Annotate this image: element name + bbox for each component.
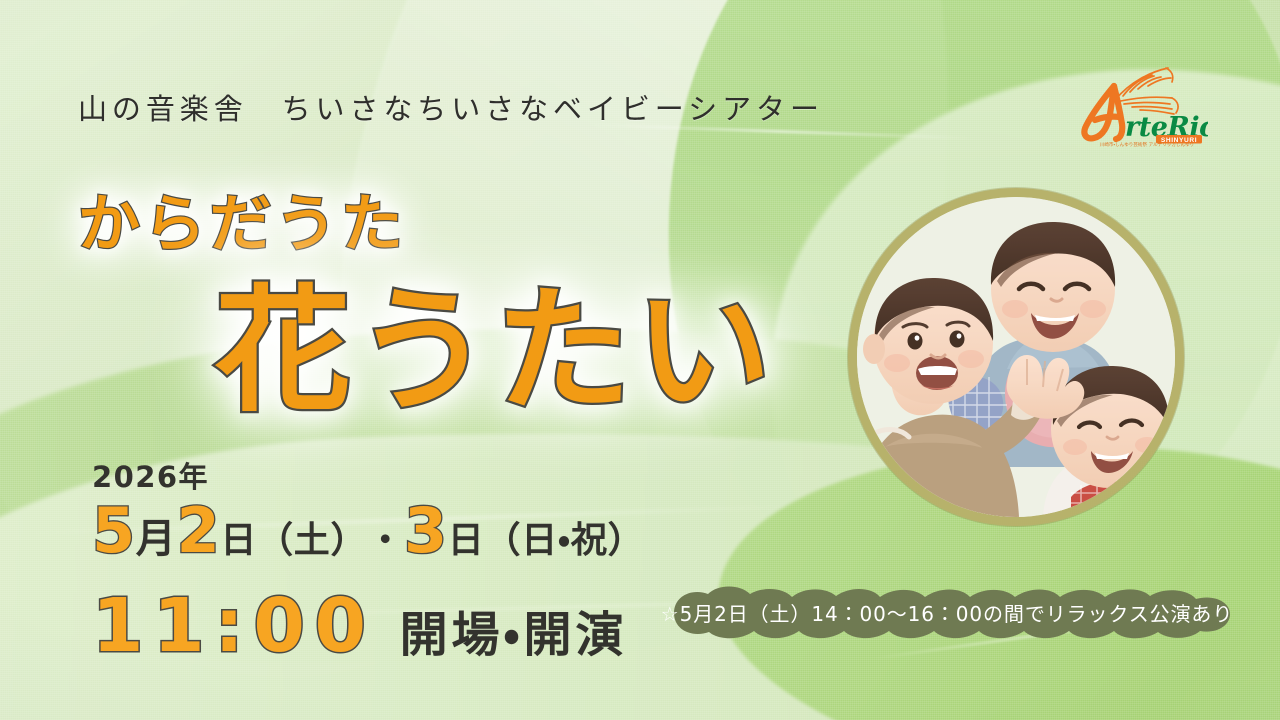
date-time-block: 2026年 5 月 2 日 （土） ・ 3 日 （日・祝） 11:00 開場・開… [92, 458, 644, 675]
photo-babies [857, 197, 1175, 517]
event-series-title: 山の音楽舎 ちいさなちいさなベイビーシアター [78, 84, 824, 134]
time-label: 開場・開演 [400, 595, 628, 675]
subtitle-karadauta: からだうた [78, 186, 407, 262]
date-month-unit: 月 [136, 506, 177, 572]
relax-performance-text: ☆5月2日（土）14：00〜16：00の間でリラックス公演あり [644, 586, 1250, 640]
time-value: 11:00 [92, 586, 376, 666]
date-day2-weekday: （日・祝） [484, 508, 644, 574]
date-year: 2026年 [92, 458, 644, 496]
date-month-number: 5 [92, 498, 136, 564]
relax-performance-banner: ☆5月2日（土）14：00〜16：00の間でリラックス公演あり [644, 586, 1250, 640]
arte-ricca-logo[interactable]: rteRicca SHINYURI 川崎市・しんゆり芸術祭 アルテリッカしんゆり [1068, 56, 1208, 148]
main-title-hanautai: 花うたい [215, 272, 775, 432]
date-day2-unit: 日 [448, 508, 485, 574]
poster-canvas: 山の音楽舎 ちいさなちいさなベイビーシアター [0, 0, 1280, 720]
date-day1-unit: 日 [220, 508, 257, 574]
date-day2-number: 3 [404, 498, 448, 564]
date-day1-weekday: （土） [257, 508, 367, 574]
time-line: 11:00 開場・開演 [92, 586, 644, 675]
photo-circle-frame [848, 188, 1184, 526]
date-main-line: 5 月 2 日 （土） ・ 3 日 （日・祝） [92, 498, 644, 574]
date-day1-number: 2 [177, 498, 221, 564]
date-separator: ・ [367, 508, 404, 574]
logo-tagline: 川崎市・しんゆり芸術祭 アルテリッカしんゆり [1085, 143, 1209, 149]
